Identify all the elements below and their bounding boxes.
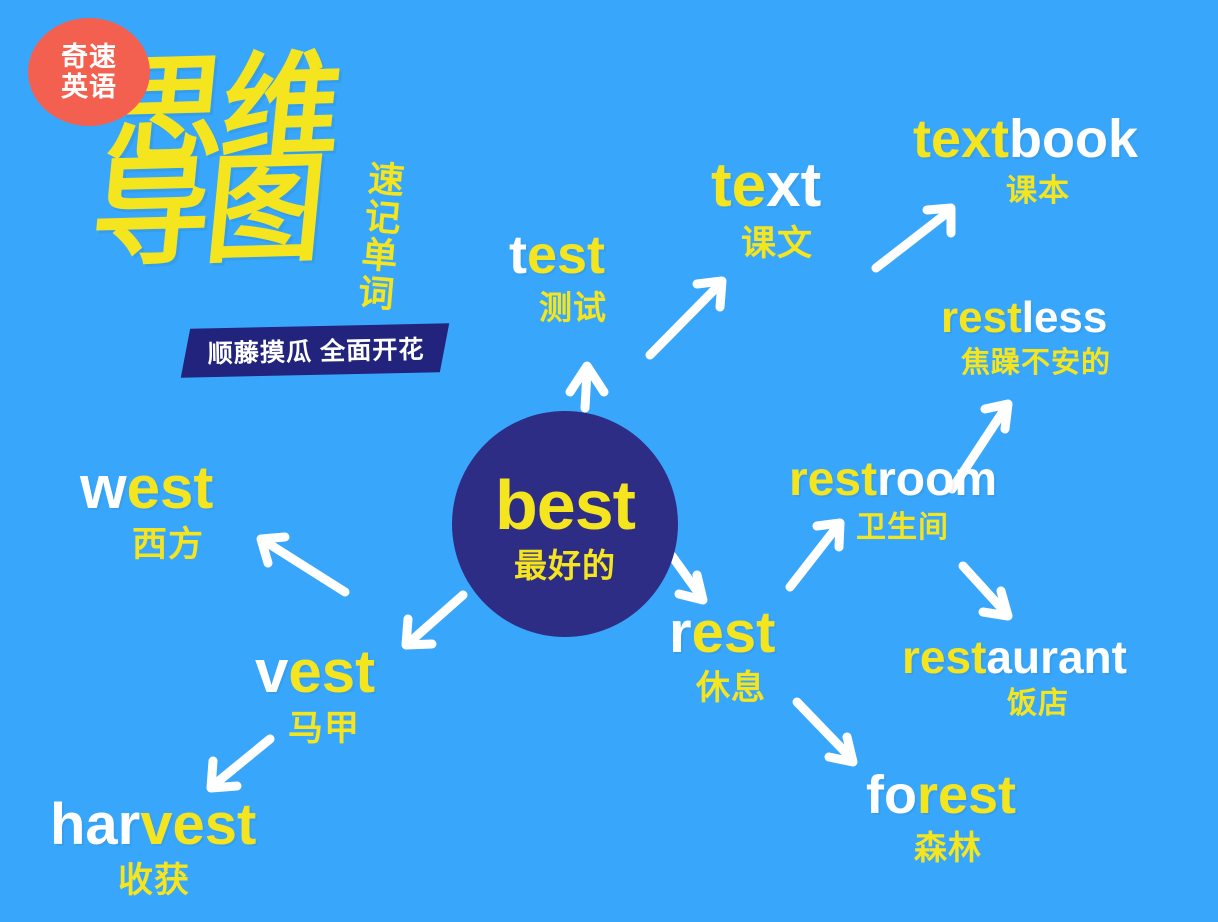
node-test-prefix: t (509, 225, 527, 285)
arrow-rest-to-forest (797, 702, 853, 762)
node-restaurant-prefix: rest (902, 631, 986, 683)
node-test[interactable]: test 测试 (509, 228, 607, 324)
node-restaurant-word: restaurant (902, 634, 1127, 680)
node-vest[interactable]: vest 马甲 (255, 642, 375, 746)
arrow-best-to-vest (406, 595, 463, 645)
node-harvest-translation: 收获 (118, 863, 256, 898)
node-west-prefix: w (80, 454, 127, 521)
arrow-vest-to-harvest (211, 739, 270, 788)
node-restroom-prefix: rest (789, 453, 877, 506)
node-text-prefix: te (711, 151, 766, 220)
node-test-word: test (509, 228, 607, 282)
tagline-ribbon-text: 顺藤摸瓜 全面开花 (207, 330, 425, 370)
node-forest-word: forest (866, 768, 1016, 822)
node-restroom-translation: 卫生间 (856, 513, 997, 543)
node-restroom[interactable]: restroom 卫生间 (789, 456, 997, 543)
node-text-translation: 课文 (741, 226, 821, 261)
header-logo-block: 奇速 英语 思维 导图 速记单词 顺藤摸瓜 全面开花 (0, 0, 480, 395)
node-rest-translation: 休息 (696, 671, 775, 705)
node-harvest-suffix: vest (140, 792, 256, 857)
node-text-suffix: xt (766, 151, 821, 220)
tagline-ribbon: 顺藤摸瓜 全面开花 (181, 323, 449, 377)
node-textbook-translation: 课本 (1006, 175, 1138, 206)
node-restroom-word: restroom (789, 456, 997, 504)
node-west-word: west (80, 458, 213, 518)
node-vest-translation: 马甲 (288, 711, 375, 746)
node-restless[interactable]: restless 焦躁不安的 (941, 296, 1111, 378)
node-textbook-suffix: book (1009, 109, 1138, 169)
node-restroom-suffix: room (877, 453, 997, 506)
node-harvest-word: harvest (50, 796, 256, 854)
arrow-best-to-rest (672, 556, 703, 600)
arrow-best-to-test (570, 366, 604, 408)
node-vest-word: vest (255, 642, 375, 702)
arrow-text-to-textbook (876, 208, 951, 268)
arrow-test-to-text (650, 281, 722, 355)
node-rest[interactable]: rest 休息 (669, 604, 775, 705)
node-restless-translation: 焦躁不安的 (961, 349, 1111, 378)
node-forest-suffix: rest (917, 765, 1016, 825)
node-textbook-prefix: text (913, 109, 1009, 169)
node-forest[interactable]: forest 森林 (866, 768, 1016, 864)
arrow-restroom-to-restaurant (963, 566, 1008, 616)
node-restless-prefix: rest (941, 293, 1022, 342)
center-node-best[interactable]: best 最好的 (452, 411, 678, 637)
brand-badge: 奇速 英语 (28, 18, 150, 126)
node-rest-prefix: r (669, 600, 692, 665)
node-textbook-word: textbook (913, 112, 1138, 166)
brand-badge-line2: 英语 (61, 72, 117, 102)
center-node-translation: 最好的 (514, 549, 616, 582)
node-harvest-prefix: har (50, 792, 140, 857)
mindmap-canvas: .ln{fill:none;stroke:#ffffff;stroke-widt… (0, 0, 1218, 922)
center-node-word: best (495, 470, 635, 540)
node-harvest[interactable]: harvest 收获 (50, 796, 256, 898)
node-restless-word: restless (941, 296, 1111, 340)
node-test-suffix: est (527, 225, 605, 285)
node-restaurant-translation: 饭店 (1007, 689, 1127, 719)
node-restaurant-suffix: aurant (986, 631, 1127, 683)
node-forest-translation: 森林 (914, 831, 1016, 864)
node-west[interactable]: west 西方 (80, 458, 213, 562)
brand-badge-line1: 奇速 (61, 42, 117, 72)
node-west-translation: 西方 (132, 527, 213, 562)
node-forest-prefix: fo (866, 765, 917, 825)
node-vest-prefix: v (255, 638, 288, 705)
node-text-word: text (711, 155, 821, 217)
node-restaurant[interactable]: restaurant 饭店 (902, 634, 1127, 719)
node-test-translation: 测试 (539, 291, 607, 324)
node-vest-suffix: est (288, 638, 375, 705)
node-rest-suffix: est (692, 600, 776, 665)
node-text[interactable]: text 课文 (711, 155, 821, 261)
node-rest-word: rest (669, 604, 775, 662)
arrow-vest-to-west (261, 537, 345, 592)
node-west-suffix: est (127, 454, 214, 521)
node-restless-suffix: less (1022, 293, 1108, 342)
page-title-line2: 导图 (87, 149, 395, 274)
node-textbook[interactable]: textbook 课本 (913, 112, 1138, 206)
